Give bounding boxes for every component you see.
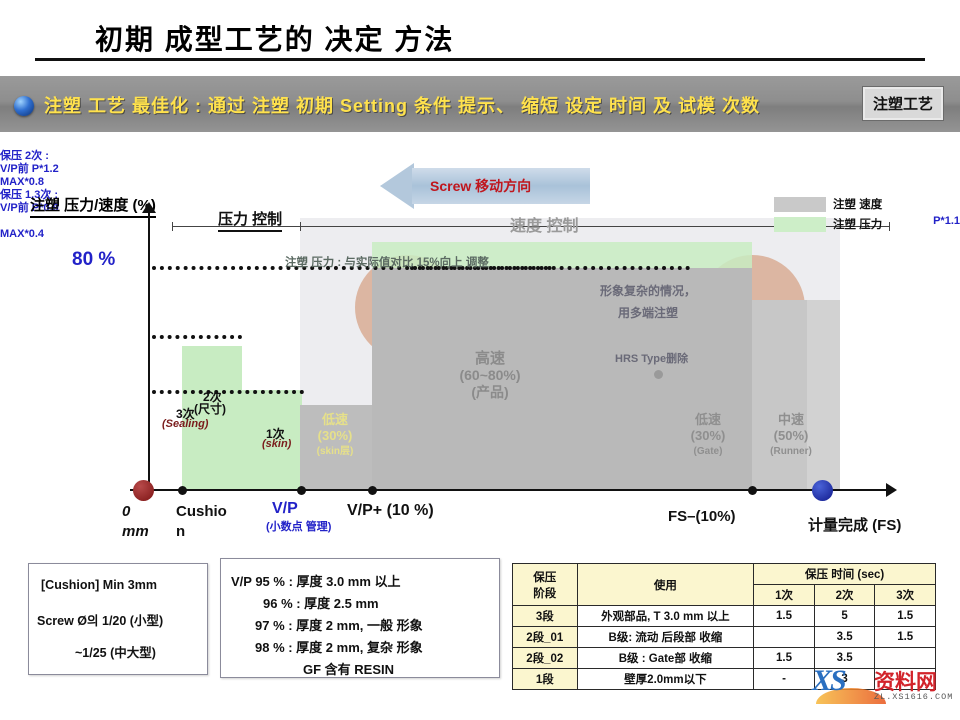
- span-tick-left: [172, 222, 173, 231]
- cell-stage: 1段: [513, 669, 578, 690]
- chart-legend: 注塑 速度 注塑 压力: [774, 196, 882, 236]
- zone-high-speed: 高速 (60~80%) (产品): [410, 350, 570, 401]
- x-marker-cushion: [178, 486, 187, 495]
- cell-use: 壁厚2.0mm以下: [577, 669, 754, 690]
- banner-bar: 注塑 工艺 最佳化 : 通过 注塑 初期 Setting 条件 提示、 缩短 设…: [0, 76, 960, 132]
- vp-info-box: V/P 95 % : 厚度 3.0 mm 以上 96 % : 厚度 2.5 mm…: [220, 558, 500, 678]
- x-marker-fs10: [748, 486, 757, 495]
- zone-low-left-name: 低速: [295, 412, 375, 428]
- cell-t1: 1.5: [754, 606, 815, 627]
- span-tick-right: [889, 222, 890, 231]
- th-time: 保压 时间 (sec): [754, 564, 936, 585]
- cell-t1: 1.5: [754, 648, 815, 669]
- y-axis: [148, 210, 150, 490]
- table-header-row: 保压 阶段 使用 保压 时间 (sec): [513, 564, 936, 585]
- zone-mid-right-note: (Runner): [752, 444, 830, 460]
- zone-high-speed-value: (60~80%): [410, 367, 570, 384]
- low-speed-right-block: [752, 300, 807, 490]
- complex-shape-line2: 用多端注塑: [600, 302, 696, 324]
- x-label-cushion-line2: n: [176, 522, 227, 542]
- zone-mid-speed-right: 中速 (50%) (Runner): [752, 412, 830, 460]
- cell-t2: 5: [814, 606, 875, 627]
- y-axis-arrow: [142, 202, 156, 213]
- cell-use: B级 : Gate部 收缩: [577, 648, 754, 669]
- cell-t3: 1.5: [875, 627, 936, 648]
- zone-low-right-name: 低速: [672, 412, 744, 428]
- span-tick-mid: [300, 222, 301, 231]
- hrs-annotation: HRS Type删除: [615, 350, 688, 366]
- legend-swatch-pressure: [774, 217, 826, 232]
- hrs-marker-dot: [654, 370, 663, 379]
- x-label-origin-line1: 0: [122, 502, 149, 522]
- cushion-line-1: [Cushion] Min 3mm: [41, 578, 157, 592]
- th-use: 使用: [577, 564, 754, 606]
- cell-t1: -: [754, 669, 815, 690]
- watermark: XS 资料网 ZL.XS1616.COM: [812, 660, 952, 708]
- x-axis-arrow: [886, 483, 897, 497]
- hold-3-sublabel: (Sealing): [162, 418, 208, 430]
- zone-mid-right-value: (50%): [752, 428, 830, 444]
- legend-swatch-speed: [774, 197, 826, 212]
- zone-low-speed-right: 低速 (30%) (Gate): [672, 412, 744, 460]
- cell-stage: 2段_02: [513, 648, 578, 669]
- watermark-logo: XS: [812, 664, 845, 698]
- cushion-info-box: [Cushion] Min 3mm Screw Ø의 1/20 (小型) ~1/…: [28, 563, 208, 675]
- vp-line-4: 98 % : 厚度 2 mm, 复杂 形象: [255, 637, 423, 656]
- process-chart: 注塑 压力/速度 (%) 压力 控制 速度 控制 Screw 移动方向: [0, 150, 960, 550]
- th-stage-line1: 保压: [515, 569, 575, 585]
- zone-low-speed-left: 低速 (30%) (skin层): [295, 412, 375, 460]
- zone-mid-right-name: 中速: [752, 412, 830, 428]
- x-axis: [130, 489, 890, 491]
- x-marker-vpp: [368, 486, 377, 495]
- x-label-vp-sub: (小数点 管理): [266, 518, 331, 534]
- mid-speed-right-block: [807, 300, 840, 490]
- vp-line-3: 97 % : 厚度 2 mm, 一般 形象: [255, 615, 423, 634]
- pressure-control-label: 压力 控制: [218, 208, 282, 232]
- x-label-vp: V/P: [272, 500, 298, 518]
- complex-shape-line1: 形象复杂的情况，: [600, 280, 696, 302]
- legend-label-pressure: 注塑 压力: [833, 216, 882, 232]
- zone-low-left-value: (30%): [295, 428, 375, 444]
- table-row: 3段 外观部品, T 3.0 mm 以上 1.5 5 1.5: [513, 606, 936, 627]
- x-label-fs: 计量完成 (FS): [808, 514, 901, 535]
- screw-direction-arrow-icon: Screw 移动方向: [380, 168, 590, 204]
- zone-high-speed-name: 高速: [410, 350, 570, 367]
- th-time-1: 1次: [754, 585, 815, 606]
- x-marker-fs: [812, 480, 833, 501]
- x-label-fs-minus-10: FS–(10%): [668, 508, 736, 525]
- level-mid-line: [152, 335, 242, 339]
- page-title: 初期 成型工艺的 决定 方法: [95, 18, 454, 58]
- bullet-icon: [14, 96, 34, 116]
- cell-t2: 3.5: [814, 627, 875, 648]
- x-label-origin-line2: mm: [122, 522, 149, 542]
- pressure-annotation: 注塑 压力 : 与实际值对比 15%向上 调整: [285, 254, 489, 270]
- zone-high-speed-note: (产品): [410, 384, 570, 401]
- x-label-vp-plus: V/P+ (10 %): [347, 502, 434, 520]
- legend-label-speed: 注塑 速度: [833, 196, 882, 212]
- banner-text: 注塑 工艺 最佳化 : 通过 注塑 初期 Setting 条件 提示、 缩短 设…: [44, 92, 760, 118]
- th-time-3: 3次: [875, 585, 936, 606]
- th-time-2: 2次: [814, 585, 875, 606]
- cell-use: 外观部品, T 3.0 mm 以上: [577, 606, 754, 627]
- vp-line-5: GF 含有 RESIN: [303, 659, 394, 678]
- x-label-cushion: Cushio n: [176, 502, 227, 542]
- x-label-origin: 0 mm: [122, 502, 149, 542]
- zone-low-right-note: (Gate): [672, 444, 744, 460]
- screw-arrow-label: Screw 移动方向: [430, 176, 531, 196]
- banner-badge: 注塑工艺: [862, 86, 944, 121]
- complex-shape-annotation: 形象复杂的情况， 用多端注塑: [600, 280, 696, 324]
- level-80-label: 80 %: [72, 250, 115, 269]
- x-label-cushion-line1: Cushio: [176, 502, 227, 522]
- cushion-line-2: Screw Ø의 1/20 (小型): [37, 610, 163, 629]
- cell-t1: [754, 627, 815, 648]
- speed-control-label: 速度 控制: [510, 212, 578, 236]
- level-low-line: [152, 390, 304, 394]
- legend-item-pressure: 注塑 压力: [774, 216, 882, 232]
- table-row: 2段_01 B级: 流动 后段部 收缩 3.5 1.5: [513, 627, 936, 648]
- zone-low-left-note: (skin层): [295, 444, 375, 460]
- y-axis-title: 注塑 压力/速度 (%): [30, 194, 156, 218]
- hold-note-2-line1: 保压 2次 :: [0, 150, 960, 163]
- th-stage: 保压 阶段: [513, 564, 578, 606]
- watermark-subtext: ZL.XS1616.COM: [874, 692, 953, 702]
- x-marker-vp: [297, 486, 306, 495]
- legend-item-speed: 注塑 速度: [774, 196, 882, 212]
- level-80-value: 80 %: [72, 249, 115, 270]
- title-divider: [35, 58, 925, 61]
- vp-line-2: 96 % : 厚度 2.5 mm: [263, 593, 379, 612]
- hold-2-sublabel: (尺寸): [194, 400, 226, 417]
- cell-use: B级: 流动 后段部 收缩: [577, 627, 754, 648]
- cell-stage: 3段: [513, 606, 578, 627]
- cell-t3: 1.5: [875, 606, 936, 627]
- x-marker-origin: [133, 480, 154, 501]
- cell-stage: 2段_01: [513, 627, 578, 648]
- cushion-line-3: ~1/25 (中大型): [75, 642, 156, 661]
- th-stage-line2: 阶段: [515, 585, 575, 601]
- zone-low-right-value: (30%): [672, 428, 744, 444]
- vp-line-1: V/P 95 % : 厚度 3.0 mm 以上: [231, 571, 401, 590]
- slide-root: 初期 成型工艺的 决定 方法 注塑 工艺 最佳化 : 通过 注塑 初期 Sett…: [0, 0, 960, 720]
- hold-1-sublabel: (skin): [262, 438, 291, 450]
